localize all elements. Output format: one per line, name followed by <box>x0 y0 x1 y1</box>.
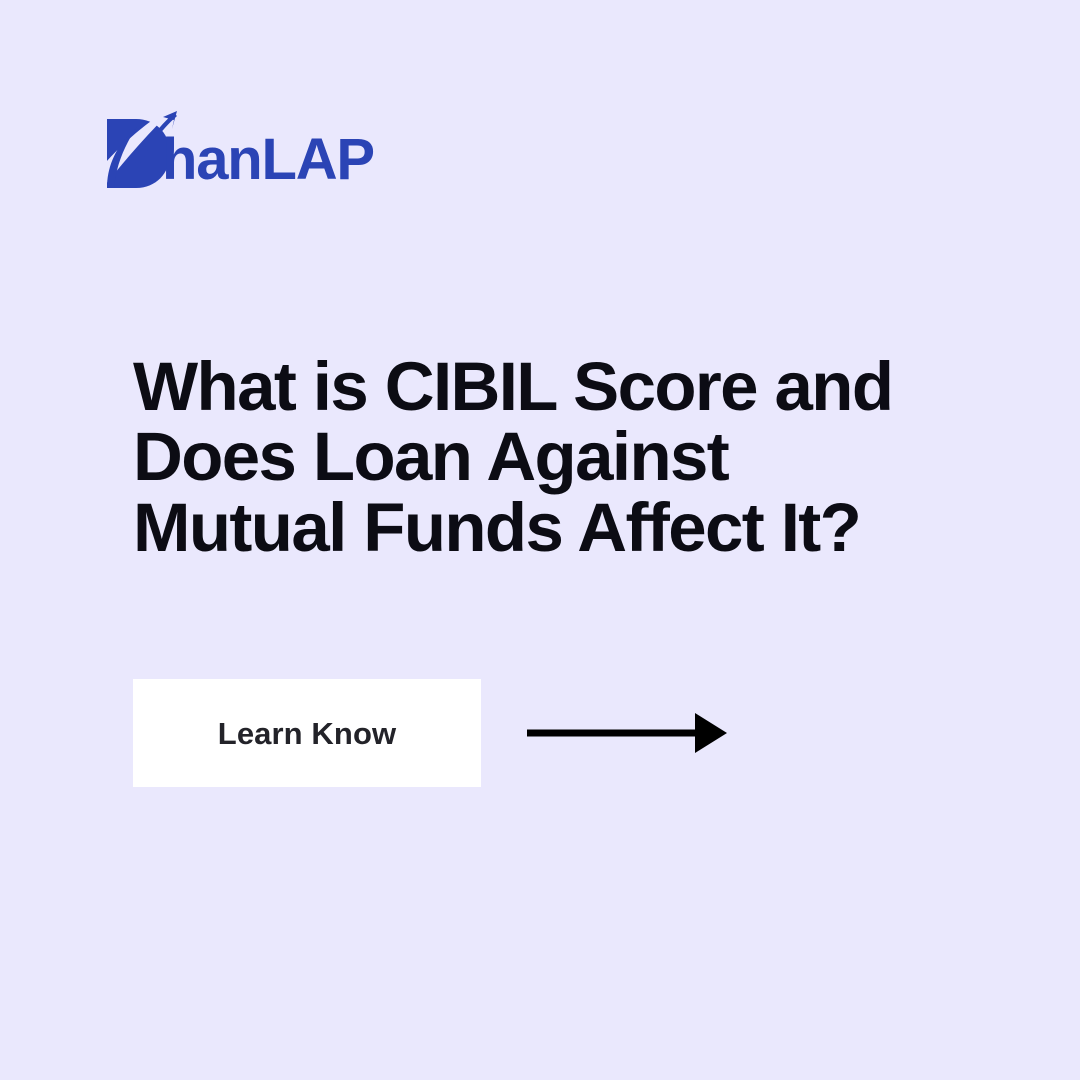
social-card-canvas: hanLAP What is CIBIL Score and Does Loan… <box>0 0 1080 1080</box>
brand-logo[interactable]: hanLAP <box>104 110 374 192</box>
cta-row: Learn Know <box>133 679 729 787</box>
arrow-right-icon[interactable] <box>527 709 729 757</box>
brand-wordmark: hanLAP <box>162 131 374 189</box>
learn-know-button[interactable]: Learn Know <box>133 679 481 787</box>
learn-know-button-label: Learn Know <box>218 718 396 749</box>
page-title: What is CIBIL Score and Does Loan Agains… <box>133 352 943 563</box>
